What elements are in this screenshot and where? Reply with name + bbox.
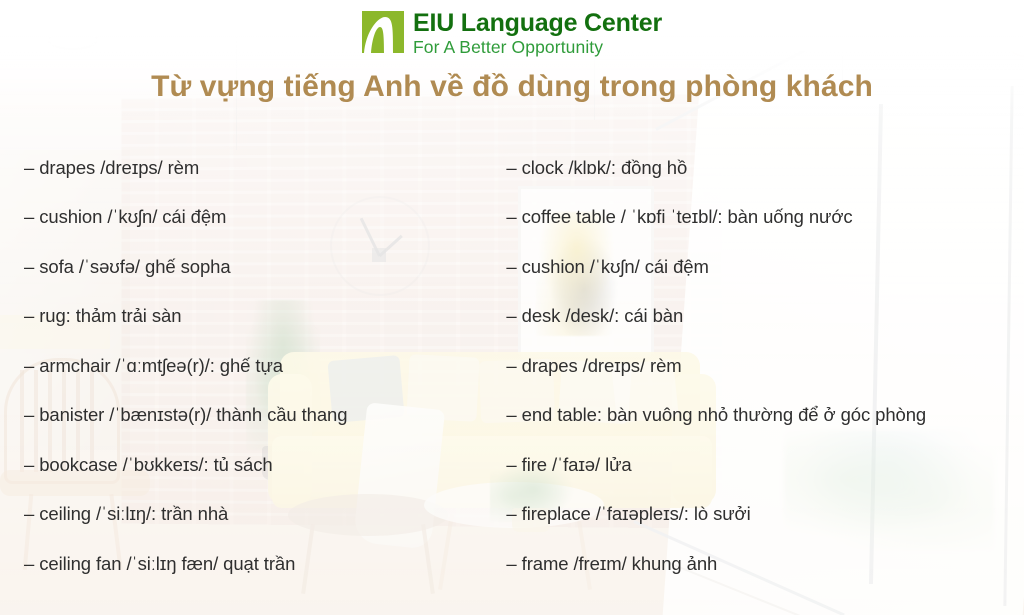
page-title: Từ vựng tiếng Anh về đồ dùng trong phòng… bbox=[0, 70, 1024, 104]
brand-tagline: For A Better Opportunity bbox=[413, 39, 662, 57]
eiu-arch-logo-icon bbox=[362, 11, 404, 53]
vocabulary-item: – desk /desk/: cái bàn bbox=[506, 292, 1024, 342]
poster-content: EIU Language Center For A Better Opportu… bbox=[0, 0, 1024, 615]
vocabulary-item: – clock /klɒk/: đồng hồ bbox=[506, 143, 1024, 193]
vocabulary-item: – drapes /dreɪps/ rèm bbox=[506, 341, 1024, 391]
vocabulary-item: – end table: bàn vuông nhỏ thường để ở g… bbox=[506, 391, 1024, 441]
vocabulary-item: – fireplace /ˈfaɪəpleɪs/: lò sưởi bbox=[506, 490, 1024, 540]
vocabulary-item: – frame /freɪm/ khung ảnh bbox=[506, 539, 1024, 589]
brand-header: EIU Language Center For A Better Opportu… bbox=[0, 11, 1024, 57]
vocabulary-column-right: – clock /klɒk/: đồng hồ – coffee table /… bbox=[0, 143, 1024, 589]
vocabulary-columns: – drapes /dreɪps/ rèm – cushion /ˈkʊʃn/ … bbox=[0, 143, 1024, 589]
vocabulary-item: – coffee table / ˈkɒfi ˈteɪbl/: bàn uống… bbox=[506, 193, 1024, 243]
vocabulary-item: – cushion /ˈkʊʃn/ cái đệm bbox=[506, 242, 1024, 292]
brand-name: EIU Language Center bbox=[413, 11, 662, 36]
vocabulary-poster: EIU Language Center For A Better Opportu… bbox=[0, 0, 1024, 615]
vocabulary-item: – fire /ˈfaɪə/ lửa bbox=[506, 440, 1024, 490]
brand-text: EIU Language Center For A Better Opportu… bbox=[413, 11, 662, 57]
